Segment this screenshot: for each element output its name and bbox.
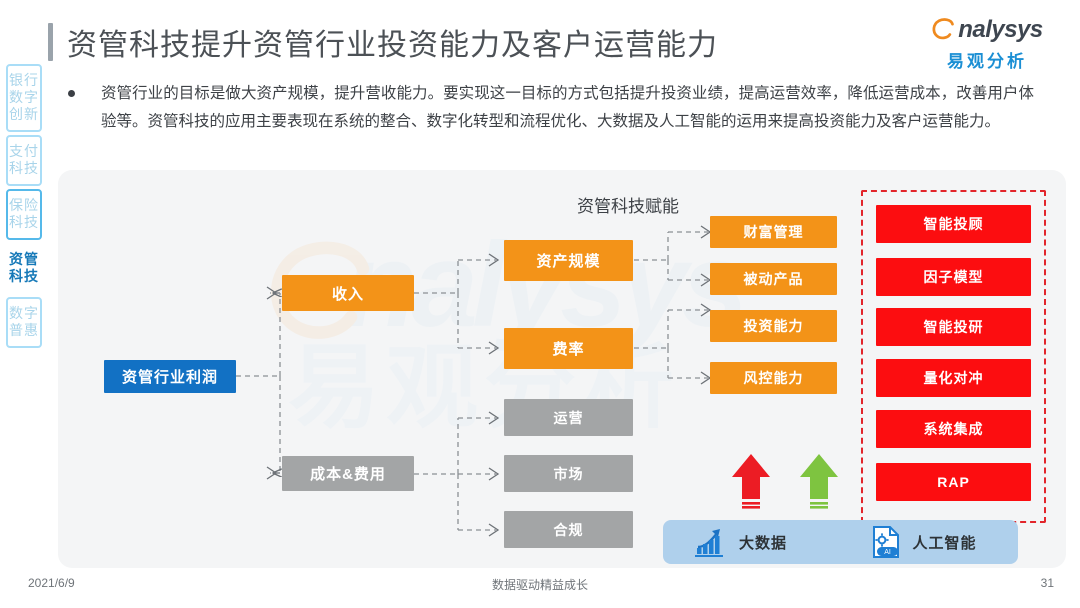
sidebar: 银行数字创新 支付科技 保险科技 资管科技 数字普惠 — [6, 64, 42, 351]
sidebar-item-bank-digital[interactable]: 银行数字创新 — [6, 64, 42, 132]
node-wealth-management[interactable]: 财富管理 — [710, 216, 837, 248]
node-system-integration[interactable]: 系统集成 — [876, 410, 1031, 448]
node-label: 投资能力 — [744, 316, 804, 336]
node-revenue[interactable]: 收入 — [282, 275, 414, 311]
footer-page-number: 31 — [1041, 576, 1054, 590]
node-asset-management-profit[interactable]: 资管行业利润 — [104, 360, 236, 393]
ai-document-icon: AI — [871, 525, 901, 559]
node-label: 系统集成 — [924, 419, 984, 439]
sidebar-item-label: 保险科技 — [8, 197, 40, 231]
sidebar-item-asset-management-tech[interactable]: 资管科技 — [6, 243, 42, 294]
footer: 2021/6/9 数据驱动精益成长 31 — [0, 576, 1080, 596]
diagram-title: 资管科技赋能 — [508, 192, 748, 217]
sidebar-item-label: 支付科技 — [8, 143, 40, 177]
page-title: 资管科技提升资管行业投资能力及客户运营能力 — [48, 20, 718, 64]
node-passive-products[interactable]: 被动产品 — [710, 263, 837, 295]
summary-bullet: 资管行业的目标是做大资产规模，提升营收能力。要实现这一目标的方式包括提升投资业绩… — [64, 80, 1034, 136]
node-compliance[interactable]: 合规 — [504, 511, 633, 548]
node-risk-control-capability[interactable]: 风控能力 — [710, 362, 837, 394]
node-smart-research[interactable]: 智能投研 — [876, 308, 1031, 346]
slide-root: 资管科技提升资管行业投资能力及客户运营能力 nalysys 易观分析 资管行业的… — [0, 0, 1080, 608]
node-smart-advisory[interactable]: 智能投顾 — [876, 205, 1031, 243]
green-up-arrow-icon — [798, 453, 840, 515]
foundation-label: 人工智能 — [913, 532, 977, 553]
node-label: 成本&费用 — [310, 463, 386, 484]
node-label: 合规 — [554, 520, 584, 540]
node-label: 收入 — [332, 283, 364, 304]
node-label: 市场 — [554, 464, 584, 484]
node-quantitative-hedging[interactable]: 量化对冲 — [876, 359, 1031, 397]
footer-tagline: 数据驱动精益成长 — [0, 576, 1080, 593]
node-label: 费率 — [552, 338, 584, 359]
sidebar-item-digital-inclusive-finance[interactable]: 数字普惠 — [6, 297, 42, 348]
analysys-logo: nalysys 易观分析 — [922, 14, 1052, 72]
foundation-label: 大数据 — [739, 532, 787, 553]
node-label: RAP — [937, 474, 970, 490]
node-label: 风控能力 — [744, 368, 804, 388]
sidebar-item-label: 资管科技 — [8, 251, 40, 285]
node-label: 资产规模 — [536, 250, 600, 271]
node-label: 智能投顾 — [924, 214, 984, 234]
bar-chart-growth-icon — [693, 526, 727, 558]
node-label: 运营 — [554, 408, 584, 428]
node-factor-model[interactable]: 因子模型 — [876, 258, 1031, 296]
node-label: 资管行业利润 — [122, 366, 218, 387]
sidebar-item-insurance-tech[interactable]: 保险科技 — [6, 189, 42, 240]
svg-text:AI: AI — [884, 549, 891, 556]
title-text: 资管科技提升资管行业投资能力及客户运营能力 — [67, 20, 718, 64]
node-cost-and-expense[interactable]: 成本&费用 — [282, 456, 414, 491]
node-operations[interactable]: 运营 — [504, 399, 633, 436]
node-investment-capability[interactable]: 投资能力 — [710, 310, 837, 342]
foundation-item-ai[interactable]: AI 人工智能 — [841, 525, 1019, 559]
logo-swirl-icon — [931, 17, 957, 43]
sidebar-item-label: 数字普惠 — [8, 305, 40, 339]
logo-wordmark: nalysys — [958, 17, 1043, 43]
title-accent-bar — [48, 23, 53, 61]
sidebar-item-payment-tech[interactable]: 支付科技 — [6, 135, 42, 186]
node-label: 财富管理 — [744, 222, 804, 242]
node-asset-scale[interactable]: 资产规模 — [504, 240, 633, 281]
summary-text: 资管行业的目标是做大资产规模，提升营收能力。要实现这一目标的方式包括提升投资业绩… — [101, 80, 1034, 136]
node-label: 被动产品 — [744, 269, 804, 289]
node-rap[interactable]: RAP — [876, 463, 1031, 501]
logo-chinese-name: 易观分析 — [922, 47, 1052, 72]
diagram-panel: nalysys 易观分析 — [58, 170, 1066, 568]
red-up-arrow-icon — [730, 453, 772, 515]
node-label: 智能投研 — [924, 317, 984, 337]
node-label: 因子模型 — [924, 267, 984, 287]
node-fee-rate[interactable]: 费率 — [504, 328, 633, 369]
sidebar-item-label: 银行数字创新 — [8, 72, 40, 123]
bullet-dot-icon — [68, 90, 75, 97]
node-label: 量化对冲 — [924, 368, 984, 388]
node-market[interactable]: 市场 — [504, 455, 633, 492]
foundation-bar: 大数据 AI 人工智能 — [663, 520, 1018, 564]
foundation-item-big-data[interactable]: 大数据 — [663, 526, 841, 558]
